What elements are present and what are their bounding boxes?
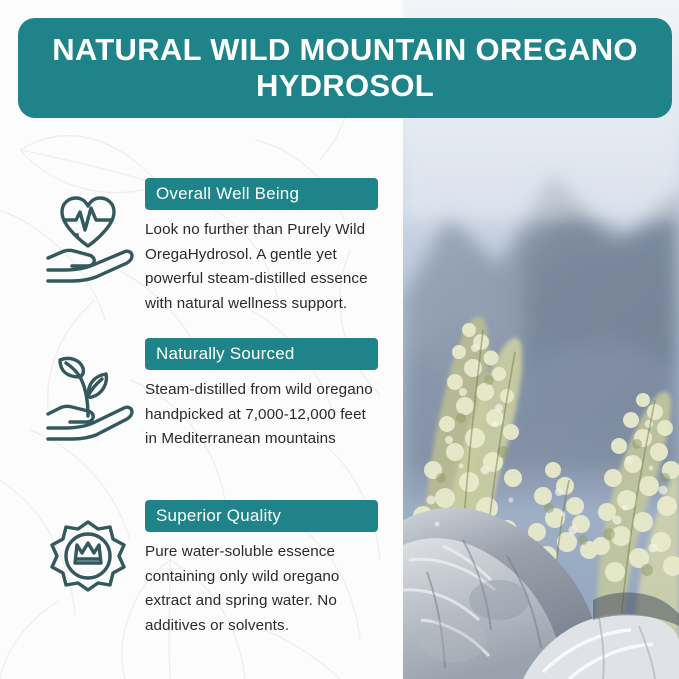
- feature-content: Superior Quality Pure water-soluble esse…: [145, 500, 378, 638]
- page-title-line-1: NATURAL WILD MOUNTAIN OREGANO: [52, 32, 638, 67]
- product-infographic: Overall Well Being Look no further than …: [0, 0, 679, 679]
- header-banner: NATURAL WILD MOUNTAIN OREGANO HYDROSOL: [18, 18, 672, 118]
- page-title: NATURAL WILD MOUNTAIN OREGANO HYDROSOL: [52, 32, 638, 105]
- feature-description: Look no further than Purely Wild OregaHy…: [145, 218, 378, 316]
- hand-holding-sprout-icon: [36, 346, 140, 450]
- feature-description: Steam-distilled from wild oregano handpi…: [145, 378, 378, 452]
- page-title-line-2: HYDROSOL: [256, 68, 434, 103]
- feature-label-bar: Overall Well Being: [145, 178, 378, 210]
- feature-label-bar: Naturally Sourced: [145, 338, 378, 370]
- quality-badge-crown-icon: [36, 512, 140, 616]
- feature-content: Naturally Sourced Steam-distilled from w…: [145, 338, 378, 452]
- feature-label: Overall Well Being: [156, 184, 299, 204]
- feature-description: Pure water-soluble essence containing on…: [145, 540, 378, 638]
- feature-label: Superior Quality: [156, 506, 281, 526]
- hand-holding-heart-pulse-icon: [36, 182, 140, 286]
- feature-label-bar: Superior Quality: [145, 500, 378, 532]
- feature-label: Naturally Sourced: [156, 344, 295, 364]
- feature-content: Overall Well Being Look no further than …: [145, 178, 378, 316]
